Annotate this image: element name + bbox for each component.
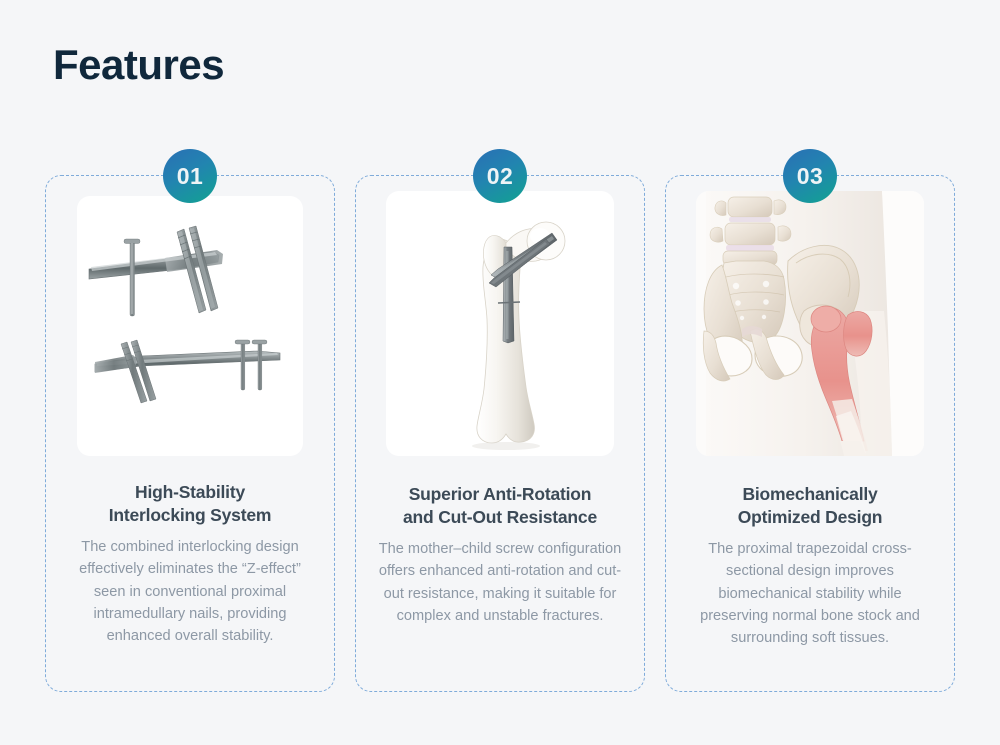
feature-card-title-line1: Superior Anti-Rotation [409, 484, 592, 504]
feature-card-title-line2: and Cut-Out Resistance [403, 507, 597, 527]
feature-number-badge-2: 02 [473, 149, 527, 203]
feature-card-title-2: Superior Anti-Rotation and Cut-Out Resis… [399, 483, 601, 529]
lower-nail-assembly [95, 340, 280, 403]
feature-card-description-2: The mother–child screw configuration off… [368, 538, 632, 627]
feature-card-1[interactable]: 01 [45, 175, 335, 692]
feature-card-title-3: Biomechanically Optimized Design [734, 483, 887, 529]
feature-card-2[interactable]: 02 [355, 175, 645, 692]
feature-number-badge-1: 01 [163, 149, 217, 203]
interlocking-nail-implants-image [77, 196, 303, 456]
feature-card-3[interactable]: 03 [665, 175, 955, 692]
feature-number-badge-3: 03 [783, 149, 837, 203]
feature-card-title-line1: Biomechanically [742, 484, 877, 504]
page-title: Features [53, 44, 224, 86]
feature-card-description-1: The combined interlocking design effecti… [58, 536, 322, 647]
upper-nail-assembly [89, 226, 223, 316]
feature-card-title-line1: High-Stability [135, 482, 245, 502]
pelvis-anatomy-image [696, 191, 924, 456]
feature-card-description-3: The proximal trapezoidal cross-sectional… [678, 538, 942, 649]
feature-card-title-1: High-Stability Interlocking System [105, 481, 276, 527]
feature-card-title-line2: Interlocking System [109, 505, 272, 525]
femur-with-nail-image [386, 191, 614, 456]
feature-cards-row: 01 [45, 175, 955, 692]
feature-card-title-line2: Optimized Design [738, 507, 883, 527]
